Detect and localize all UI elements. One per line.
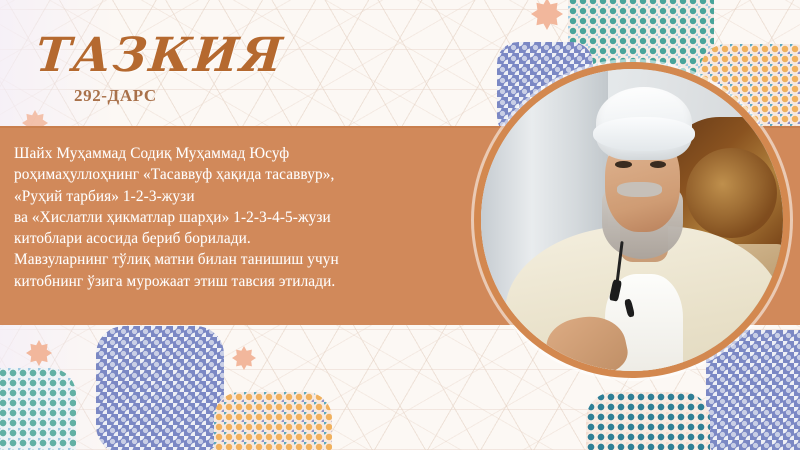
page-title: ТАЗКИЯ [34, 28, 287, 83]
quatrefoil-tile-dots-bottomright [586, 392, 710, 450]
slide-canvas: ТАЗКИЯ 292-ДАРС Шайх Муҳаммад Содиқ Муҳа… [0, 0, 800, 450]
scholar-portrait [474, 62, 790, 378]
banner-description: Шайх Муҳаммад Содиқ Муҳаммад Юсуф роҳима… [14, 143, 444, 292]
quatrefoil-tile-peach-bottomleft [0, 368, 76, 450]
quatrefoil-tile-colorful-bottom [214, 392, 332, 450]
quatrefoil-tile-blue-bottomleft [96, 326, 224, 450]
lesson-number: 292-ДАРС [74, 86, 157, 106]
